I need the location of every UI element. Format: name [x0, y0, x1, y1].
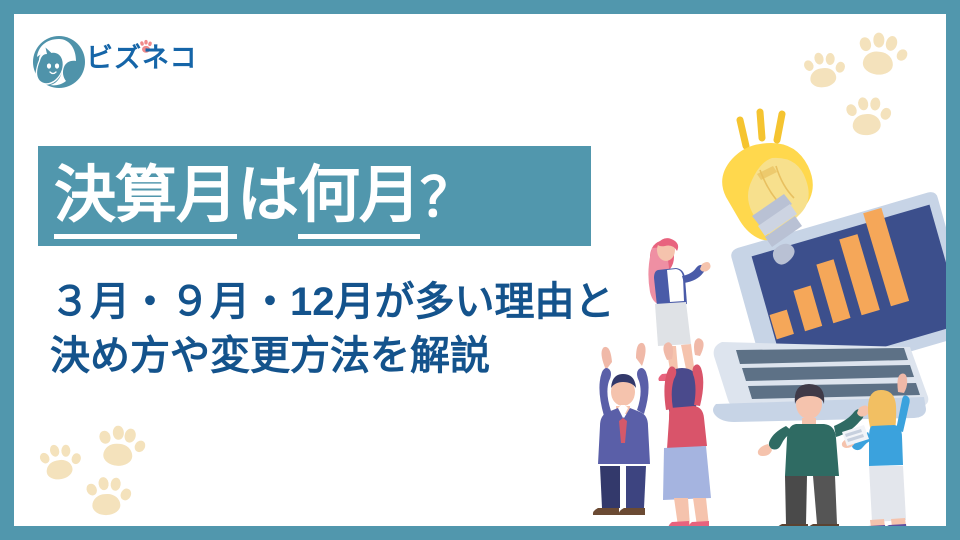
paw-print-icon [94, 418, 147, 471]
poster-canvas: ビズネコ 決算月は何月？ ３月・９月・12月が多い理由と 決め方や変更方法を解説 [14, 14, 946, 526]
cat-circle-icon [30, 33, 88, 91]
title-segment-3: 何月 [298, 162, 420, 239]
paw-print-icon [853, 24, 910, 81]
person-figure [593, 343, 650, 515]
page-title: 決算月は何月？ [54, 165, 473, 227]
title-segment-1: 決算月 [54, 162, 237, 239]
person-figure [648, 238, 710, 381]
paw-print-icon [35, 436, 86, 487]
title-banner: 決算月は何月？ [38, 146, 591, 246]
paw-print-icon [83, 470, 133, 520]
title-segment-2: は [237, 162, 298, 230]
title-segment-4: ？ [420, 168, 473, 228]
brand-logo[interactable]: ビズネコ [30, 33, 190, 99]
business-people-laptop-lightbulb-illustration [554, 74, 946, 526]
poster-frame: ビズネコ 決算月は何月？ ３月・９月・12月が多い理由と 決め方や変更方法を解説 [0, 0, 960, 540]
brand-name: ビズネコ [86, 45, 197, 72]
